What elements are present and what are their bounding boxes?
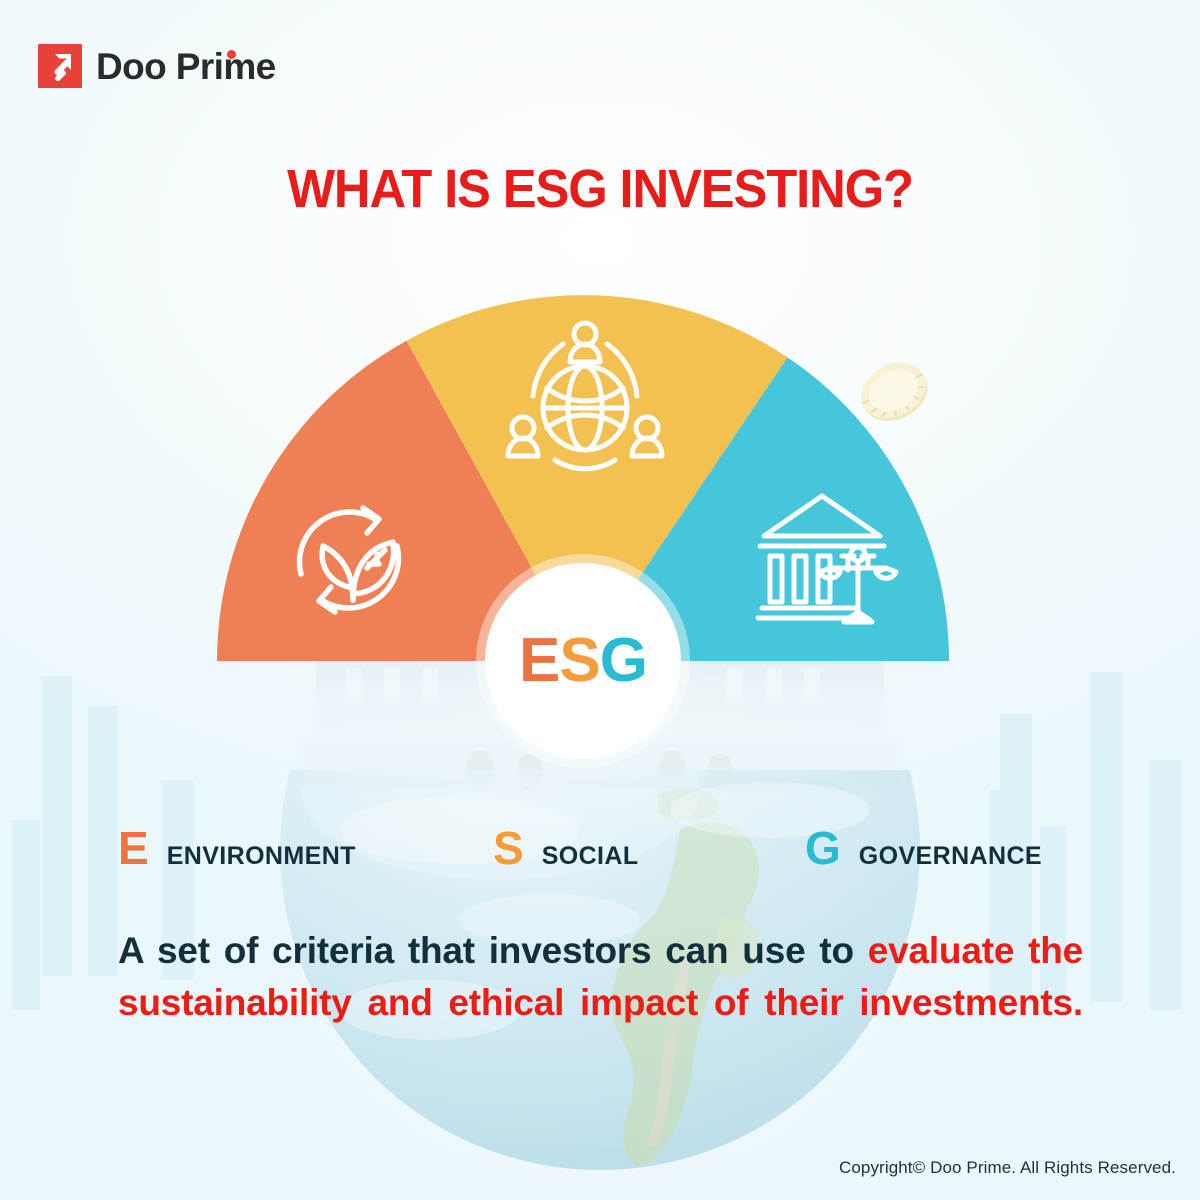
description-plain: A set of criteria that investors can use… [118, 930, 868, 971]
legend-item-social[interactable]: S SOCIAL [493, 825, 805, 871]
description-paragraph: A set of criteria that investors can use… [118, 925, 1083, 1080]
esg-letter-e: E [519, 626, 559, 695]
legend-item-governance[interactable]: G GOVERNANCE [805, 825, 1042, 871]
legend-row: E ENVIRONMENT S SOCIAL G GOVERNANCE [118, 825, 1093, 871]
esg-center-badge: ESG [485, 563, 681, 759]
legend-letter-e: E [118, 825, 149, 871]
legend-letter-g: G [805, 825, 841, 871]
legend-letter-s: S [493, 825, 524, 871]
legend-item-environment[interactable]: E ENVIRONMENT [118, 825, 493, 871]
copyright-footer: Copyright© Doo Prime. All Rights Reserve… [839, 1158, 1176, 1178]
doo-prime-logo-mark-icon [38, 44, 82, 88]
page-title: WHAT IS ESG INVESTING? [36, 158, 1164, 220]
esg-acronym: ESG [519, 630, 647, 692]
legend-label-social: SOCIAL [542, 842, 639, 871]
legend-label-governance: GOVERNANCE [859, 842, 1042, 871]
esg-letter-s: S [559, 626, 599, 695]
esg-letter-g: G [600, 626, 647, 695]
legend-label-environment: ENVIRONMENT [167, 842, 356, 871]
brand-logo[interactable]: Doo Prime [38, 44, 276, 88]
logo-accent-dot [227, 50, 236, 59]
brand-name: Doo Prime [96, 48, 276, 85]
